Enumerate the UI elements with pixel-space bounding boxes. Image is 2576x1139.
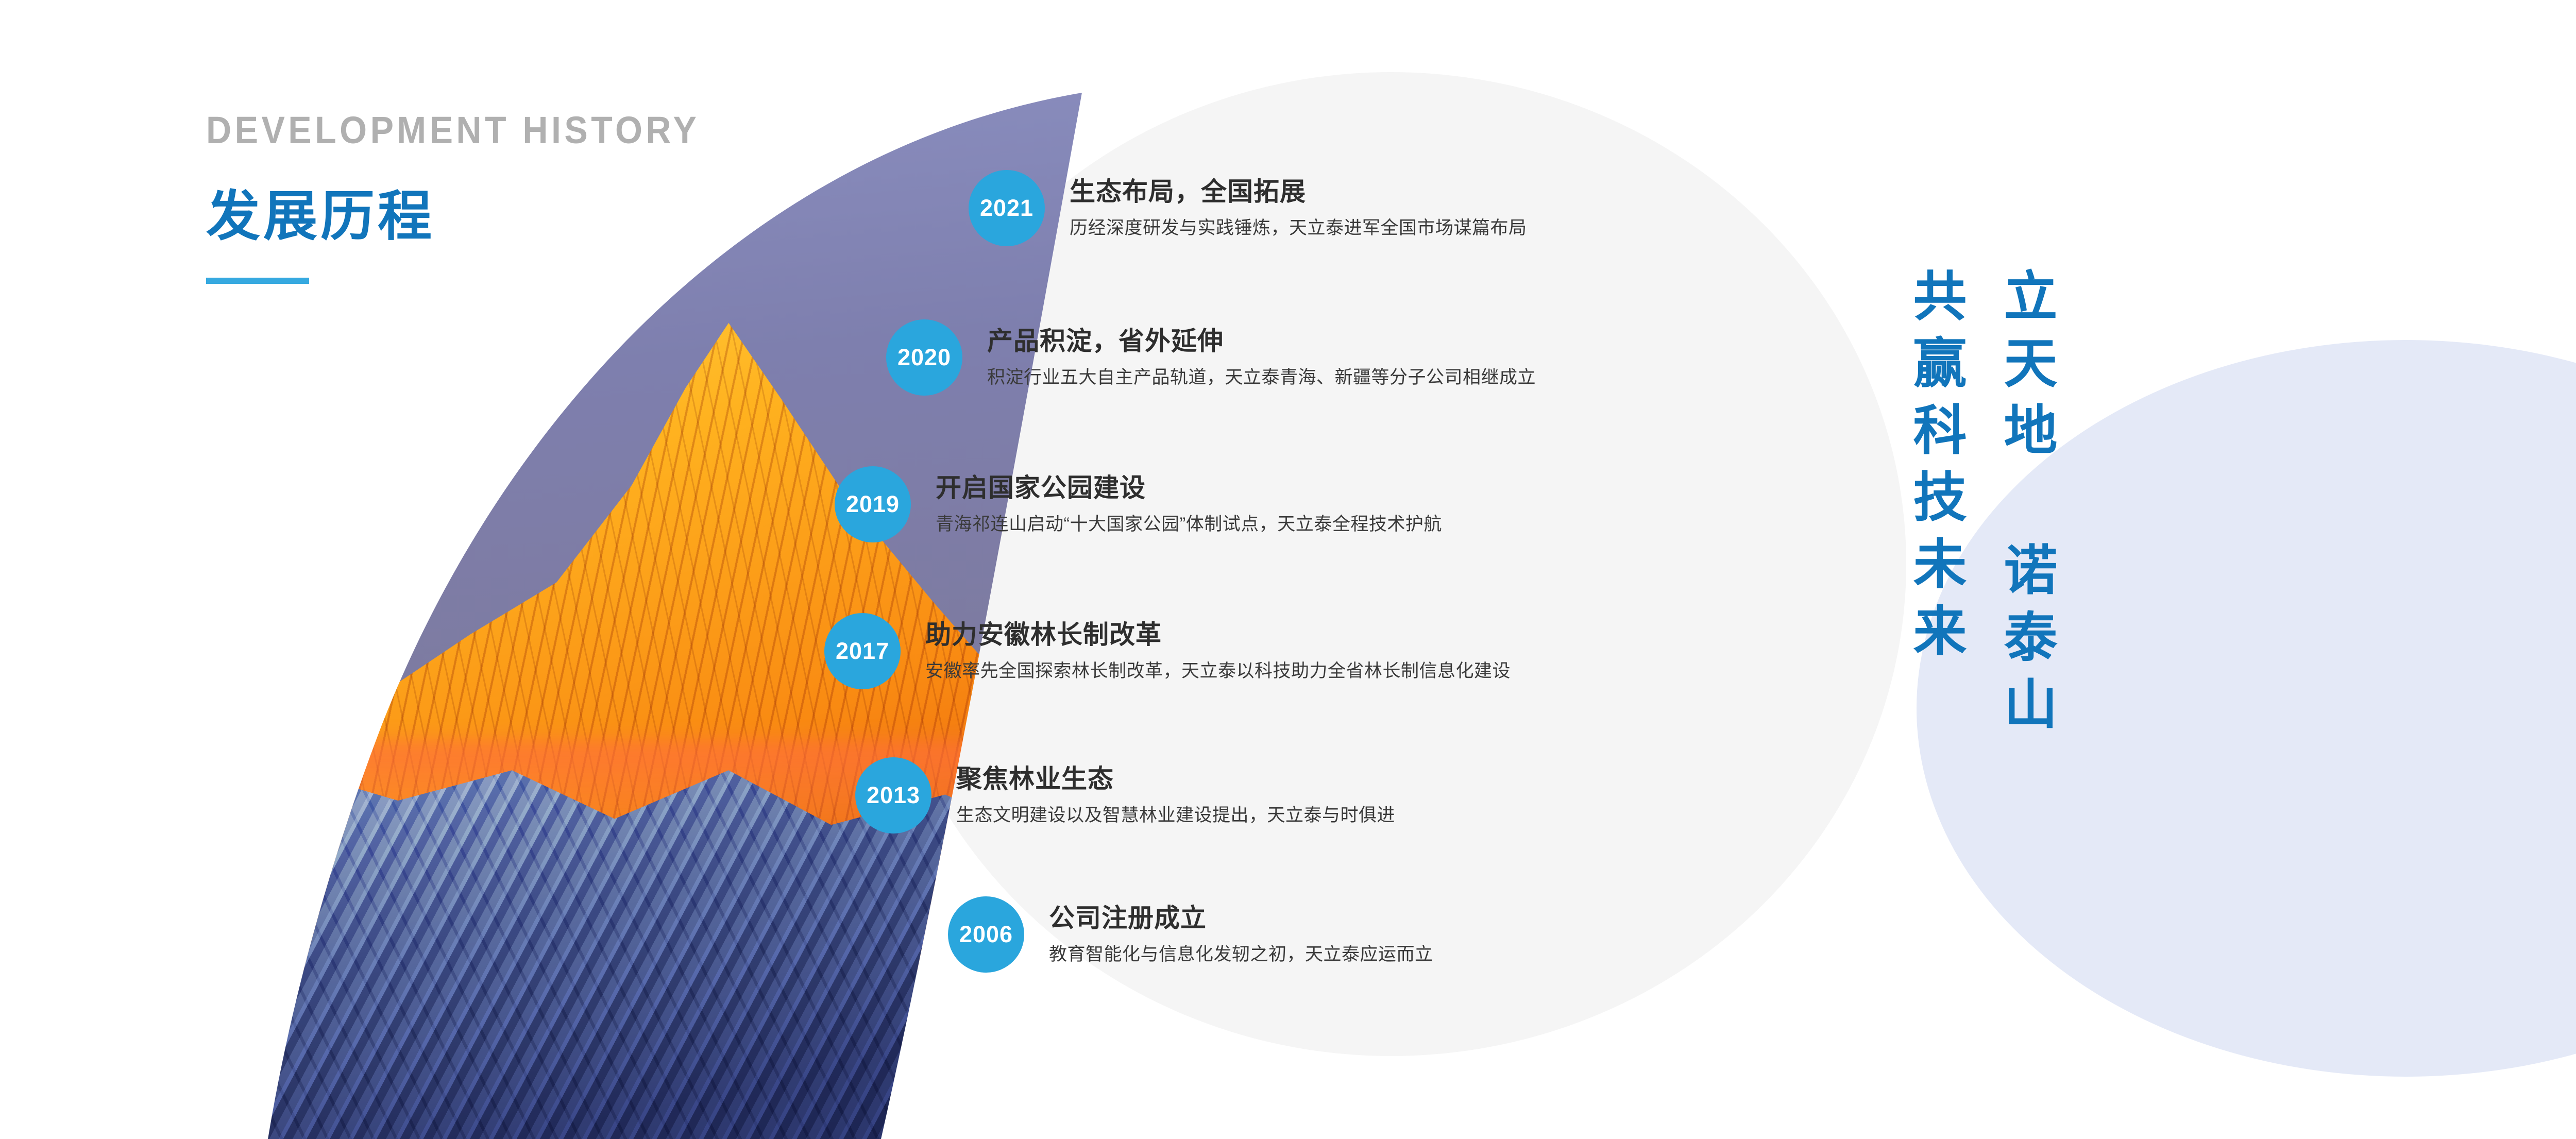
timeline-title: 公司注册成立	[1049, 903, 1433, 934]
timeline-item-2019[interactable]: 2019 开启国家公园建设 青海祁连山启动“十大国家公园”体制试点，天立泰全程技…	[835, 466, 1442, 542]
slogan-column-right: 立天地 诺泰山	[1998, 268, 2052, 743]
timeline-item-2013[interactable]: 2013 聚焦林业生态 生态文明建设以及智慧林业建设提出，天立泰与时俱进	[855, 757, 1395, 834]
timeline-year-badge: 2021	[969, 170, 1045, 246]
timeline-desc: 历经深度研发与实践锤炼，天立泰进军全国市场谋篇布局	[1070, 216, 1527, 240]
timeline-text: 公司注册成立 教育智能化与信息化发轫之初，天立泰应运而立	[1049, 903, 1433, 966]
timeline-title: 产品积淀，省外延伸	[987, 326, 1536, 357]
timeline-year-badge: 2019	[835, 466, 911, 542]
timeline-title: 生态布局，全国拓展	[1070, 176, 1527, 208]
timeline-year-badge: 2017	[824, 613, 901, 689]
timeline-desc: 积淀行业五大自主产品轨道，天立泰青海、新疆等分子公司相继成立	[987, 366, 1536, 389]
timeline-title: 助力安徽林长制改革	[925, 619, 1511, 651]
timeline-desc: 青海祁连山启动“十大国家公园”体制试点，天立泰全程技术护航	[936, 513, 1442, 536]
timeline-text: 产品积淀，省外延伸 积淀行业五大自主产品轨道，天立泰青海、新疆等分子公司相继成立	[987, 326, 1536, 389]
timeline-title: 开启国家公园建设	[936, 472, 1442, 504]
timeline-desc: 教育智能化与信息化发轫之初，天立泰应运而立	[1049, 943, 1433, 966]
timeline-text: 聚焦林业生态 生态文明建设以及智慧林业建设提出，天立泰与时俱进	[956, 763, 1395, 827]
timeline-text: 开启国家公园建设 青海祁连山启动“十大国家公园”体制试点，天立泰全程技术护航	[936, 472, 1442, 536]
timeline-desc: 安徽率先全国探索林长制改革，天立泰以科技助力全省林长制信息化建设	[925, 659, 1511, 683]
timeline-item-2021[interactable]: 2021 生态布局，全国拓展 历经深度研发与实践锤炼，天立泰进军全国市场谋篇布局	[969, 170, 1527, 246]
timeline-item-2006[interactable]: 2006 公司注册成立 教育智能化与信息化发轫之初，天立泰应运而立	[948, 896, 1433, 973]
timeline-year-badge: 2006	[948, 896, 1024, 973]
timeline-year-badge: 2013	[855, 757, 931, 834]
timeline-text: 生态布局，全国拓展 历经深度研发与实践锤炼，天立泰进军全国市场谋篇布局	[1070, 176, 1527, 240]
timeline-text: 助力安徽林长制改革 安徽率先全国探索林长制改革，天立泰以科技助力全省林长制信息化…	[925, 619, 1511, 683]
timeline-desc: 生态文明建设以及智慧林业建设提出，天立泰与时俱进	[956, 804, 1395, 827]
slogan-column-left: 共赢科技未来	[1908, 268, 1961, 743]
timeline-item-2017[interactable]: 2017 助力安徽林长制改革 安徽率先全国探索林长制改革，天立泰以科技助力全省林…	[824, 613, 1511, 689]
timeline-item-2020[interactable]: 2020 产品积淀，省外延伸 积淀行业五大自主产品轨道，天立泰青海、新疆等分子公…	[886, 319, 1536, 396]
timeline-year-badge: 2020	[886, 319, 962, 396]
timeline-title: 聚焦林业生态	[956, 763, 1395, 795]
vertical-slogan: 共赢科技未来 立天地 诺泰山	[1908, 268, 2576, 743]
